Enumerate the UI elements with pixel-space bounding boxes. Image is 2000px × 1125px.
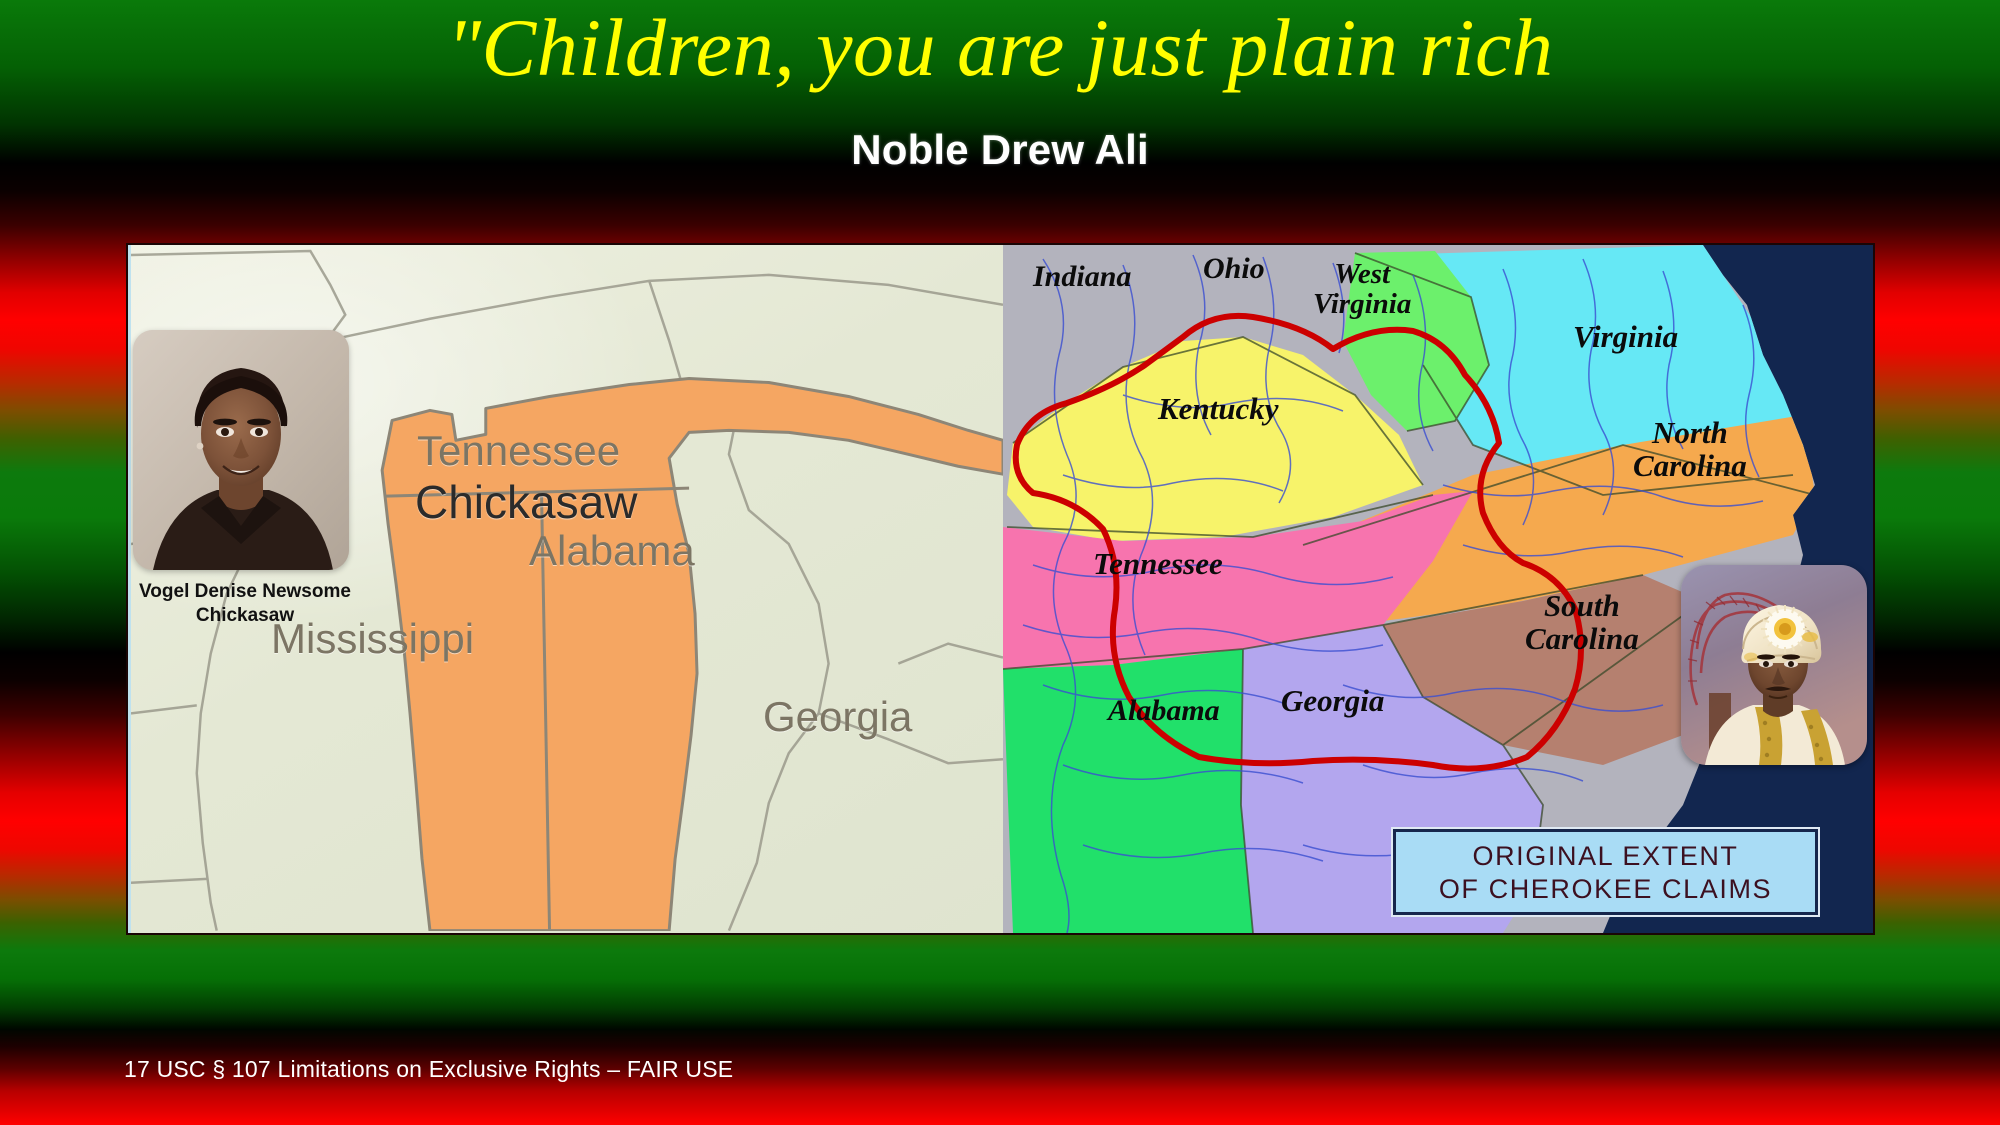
slide-canvas: "Children, you are just plain rich Noble… <box>0 0 2000 1125</box>
cherokee-caption-line2: OF CHEROKEE CLAIMS <box>1439 873 1772 906</box>
map-label-south-carolina: South Carolina <box>1525 590 1639 655</box>
map-label-ohio: Ohio <box>1203 253 1265 285</box>
noble-drew-ali-portrait-card <box>1681 565 1867 765</box>
map-label-north-carolina-line2: Carolina <box>1633 448 1747 483</box>
map-label-south-carolina-line1: South <box>1544 588 1620 623</box>
vogel-portrait-caption: Vogel Denise Newsome Chickasaw <box>110 580 380 629</box>
page-title: "Children, you are just plain rich <box>0 2 2000 94</box>
map-label-north-carolina: North Carolina <box>1633 417 1747 482</box>
map-label-georgia-right: Georgia <box>1281 685 1384 718</box>
map-label-virginia: Virginia <box>1573 321 1678 354</box>
map-label-alabama: Alabama <box>529 527 695 575</box>
map-label-west-virginia-line1: West <box>1334 258 1390 290</box>
map-label-indiana: Indiana <box>1033 261 1131 293</box>
map-label-alabama-right: Alabama <box>1108 695 1220 727</box>
slide-header: "Children, you are just plain rich Noble… <box>0 0 2000 210</box>
map-label-west-virginia: West Virginia <box>1313 259 1411 320</box>
cherokee-claims-caption: ORIGINAL EXTENT OF CHEROKEE CLAIMS <box>1393 829 1818 915</box>
vogel-portrait-card <box>133 330 349 570</box>
map-label-chickasaw: Chickasaw <box>415 475 637 529</box>
vogel-caption-line2: Chickasaw <box>196 605 294 626</box>
map-label-west-virginia-line2: Virginia <box>1313 288 1411 320</box>
map-label-tennessee-right: Tennessee <box>1093 548 1223 581</box>
map-label-north-carolina-line1: North <box>1652 415 1728 450</box>
fair-use-notice: 17 USC § 107 Limitations on Exclusive Ri… <box>124 1056 733 1083</box>
map-label-georgia: Georgia <box>763 693 912 741</box>
map-image-panel: Tennessee Chickasaw Georgia Alabama Miss… <box>128 245 1873 933</box>
vogel-caption-line1: Vogel Denise Newsome <box>139 581 351 602</box>
map-label-south-carolina-line2: Carolina <box>1525 621 1639 656</box>
noble-drew-ali-portrait-image <box>1681 565 1867 765</box>
map-label-kentucky: Kentucky <box>1158 393 1279 426</box>
page-subtitle: Noble Drew Ali <box>0 126 2000 174</box>
map-label-tennessee: Tennessee <box>417 427 620 475</box>
vogel-portrait-image <box>133 330 349 570</box>
cherokee-caption-line1: ORIGINAL EXTENT <box>1472 840 1738 873</box>
